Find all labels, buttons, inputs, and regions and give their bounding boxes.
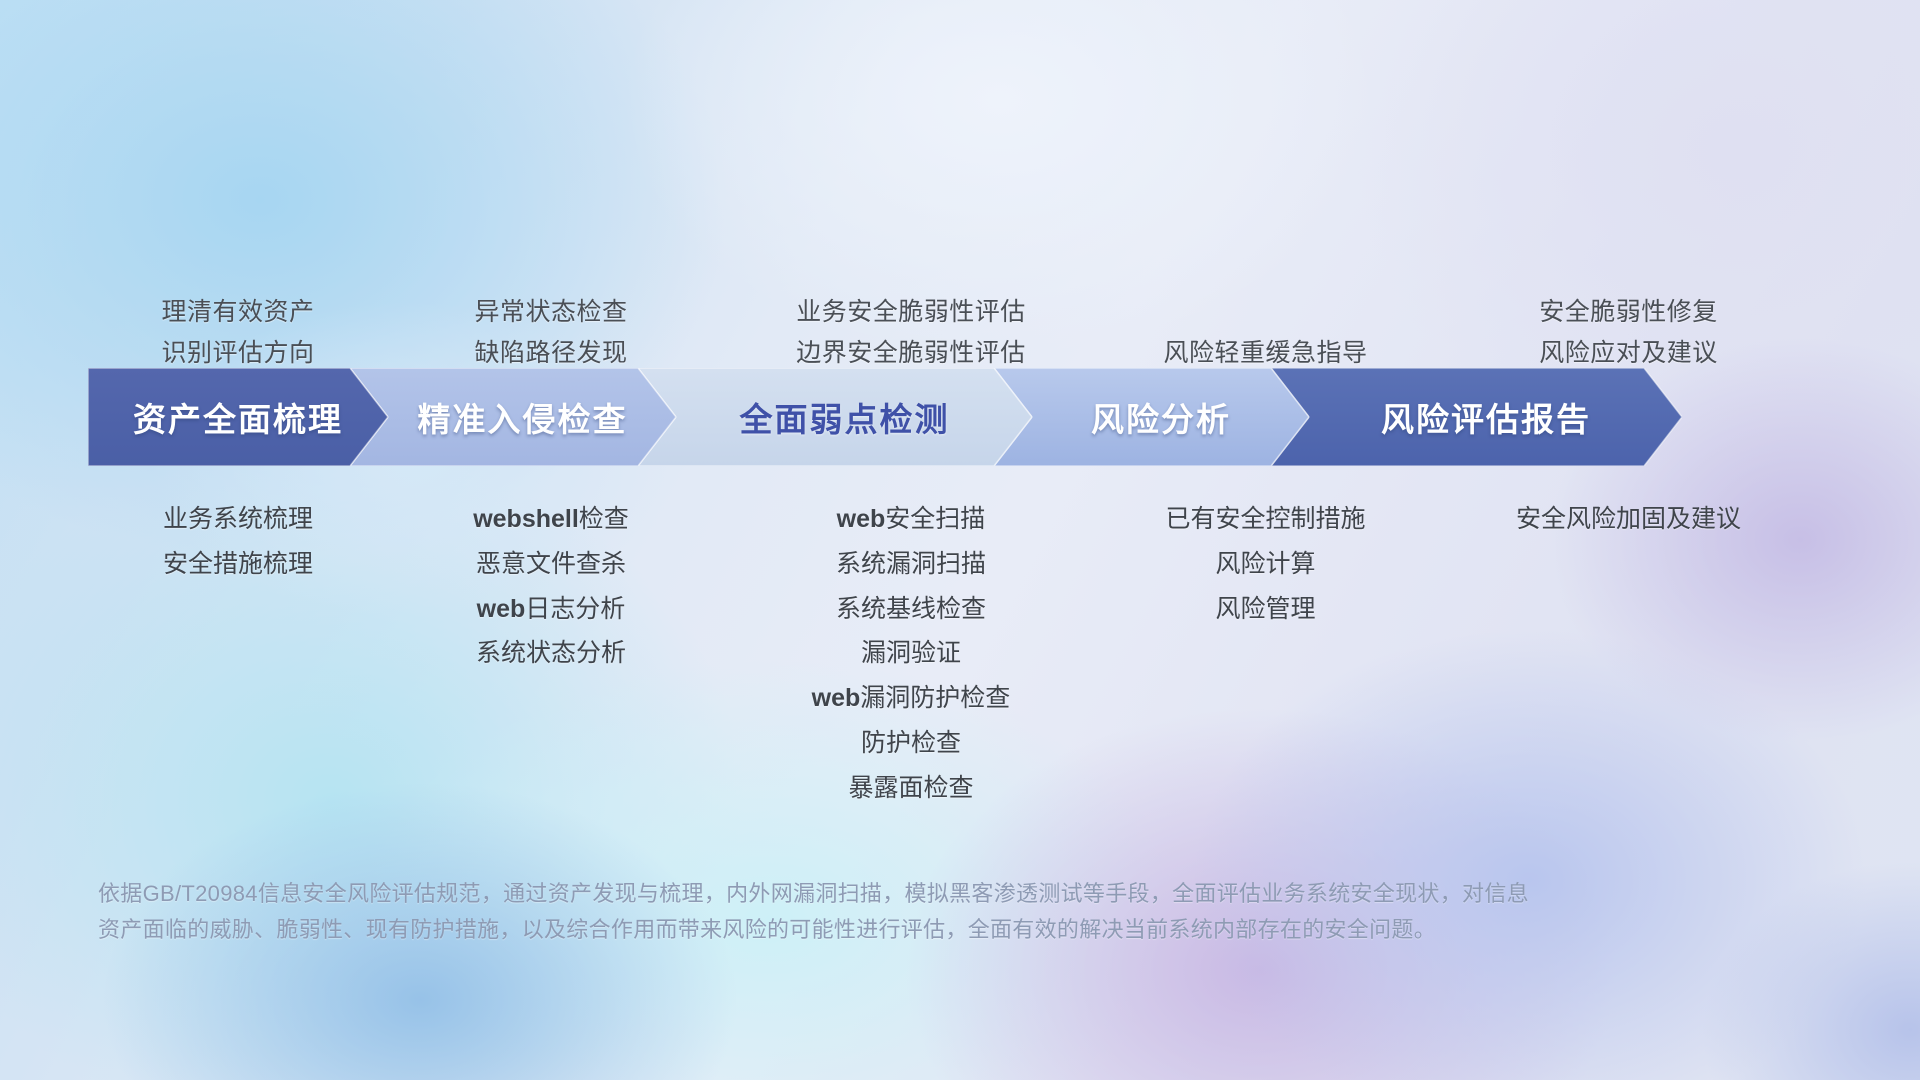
- list-item: 暴露面检查: [848, 774, 973, 803]
- top-captions-stage-2: 异常状态检查缺陷路径发现: [474, 298, 627, 368]
- list-item: 安全风险加固及建议: [1516, 505, 1741, 534]
- list-item: 风险管理: [1215, 595, 1315, 624]
- top-captions-stage-4: 风险轻重缓急指导: [1163, 339, 1367, 369]
- chevron-stage-3[interactable]: 全面弱点检测: [638, 368, 1032, 466]
- chevron-label-stage-4: 风险分析: [1091, 393, 1231, 441]
- footer-description: 依据GB/T20984信息安全风险评估规范，通过资产发现与梳理，内外网漏洞扫描，…: [98, 876, 1618, 947]
- list-item: 恶意文件查杀: [476, 550, 626, 579]
- top-captions-stage-3: 业务安全脆弱性评估边界安全脆弱性评估: [796, 298, 1026, 368]
- items-stage-5: 安全风险加固及建议: [1516, 505, 1741, 534]
- chevron-stage-1[interactable]: 资产全面梳理: [88, 368, 388, 466]
- list-item-latin: web: [477, 595, 526, 623]
- items-stage-4: 已有安全控制措施风险计算风险管理: [1165, 505, 1365, 623]
- caption-text: 缺陷路径发现: [474, 339, 627, 369]
- items-stage-3: web安全扫描系统漏洞扫描系统基线检查漏洞验证web漏洞防护检查防护检查暴露面检…: [812, 505, 1011, 802]
- list-item: webshell检查: [473, 505, 629, 534]
- top-captions-row: 理清有效资产识别评估方向异常状态检查缺陷路径发现业务安全脆弱性评估边界安全脆弱性…: [0, 248, 1920, 368]
- caption-text: 风险轻重缓急指导: [1163, 339, 1367, 369]
- process-diagram: 理清有效资产识别评估方向异常状态检查缺陷路径发现业务安全脆弱性评估边界安全脆弱性…: [0, 0, 1920, 1080]
- list-item: 系统漏洞扫描: [836, 550, 986, 579]
- list-item: 防护检查: [861, 729, 961, 758]
- caption-text: 业务安全脆弱性评估: [796, 298, 1026, 328]
- list-item: web漏洞防护检查: [812, 684, 1011, 713]
- items-stage-1: 业务系统梳理安全措施梳理: [163, 505, 313, 579]
- top-captions-stage-1: 理清有效资产识别评估方向: [161, 298, 314, 368]
- chevron-stage-4[interactable]: 风险分析: [994, 368, 1309, 466]
- chevron-label-stage-5: 风险评估报告: [1381, 393, 1591, 441]
- chevron-label-stage-2: 精准入侵检查: [418, 393, 628, 441]
- list-item-latin: web: [837, 505, 886, 533]
- footer-line-1: 依据GB/T20984信息安全风险评估规范，通过资产发现与梳理，内外网漏洞扫描，…: [98, 876, 1618, 912]
- list-item: web日志分析: [477, 595, 626, 624]
- footer-line-2: 资产面临的威胁、脆弱性、现有防护措施，以及综合作用而带来风险的可能性进行评估，全…: [98, 912, 1618, 948]
- items-stage-2: webshell检查恶意文件查杀web日志分析系统状态分析: [473, 505, 629, 668]
- caption-text: 安全脆弱性修复: [1539, 298, 1718, 328]
- list-item-latin: webshell: [473, 505, 579, 533]
- list-item-latin: web: [812, 684, 861, 712]
- chevron-stage-2[interactable]: 精准入侵检查: [350, 368, 676, 466]
- caption-text: 异常状态检查: [474, 298, 627, 328]
- list-item: 系统状态分析: [476, 639, 626, 668]
- list-item: 风险计算: [1215, 550, 1315, 579]
- list-item: 漏洞验证: [861, 639, 961, 668]
- top-captions-stage-5: 安全脆弱性修复风险应对及建议: [1539, 298, 1718, 368]
- chevron-band: 资产全面梳理精准入侵检查全面弱点检测风险分析风险评估报告: [88, 368, 1834, 466]
- chevron-label-stage-1: 资产全面梳理: [133, 393, 343, 441]
- list-item: 已有安全控制措施: [1165, 505, 1365, 534]
- chevron-stage-5[interactable]: 风险评估报告: [1271, 368, 1682, 466]
- caption-text: 边界安全脆弱性评估: [796, 339, 1026, 369]
- caption-text: 理清有效资产: [161, 298, 314, 328]
- list-item: 安全措施梳理: [163, 550, 313, 579]
- list-item: web安全扫描: [837, 505, 986, 534]
- chevron-label-stage-3: 全面弱点检测: [740, 393, 950, 441]
- caption-text: 识别评估方向: [161, 339, 314, 369]
- list-item: 系统基线检查: [836, 595, 986, 624]
- list-item: 业务系统梳理: [163, 505, 313, 534]
- caption-text: 风险应对及建议: [1539, 339, 1718, 369]
